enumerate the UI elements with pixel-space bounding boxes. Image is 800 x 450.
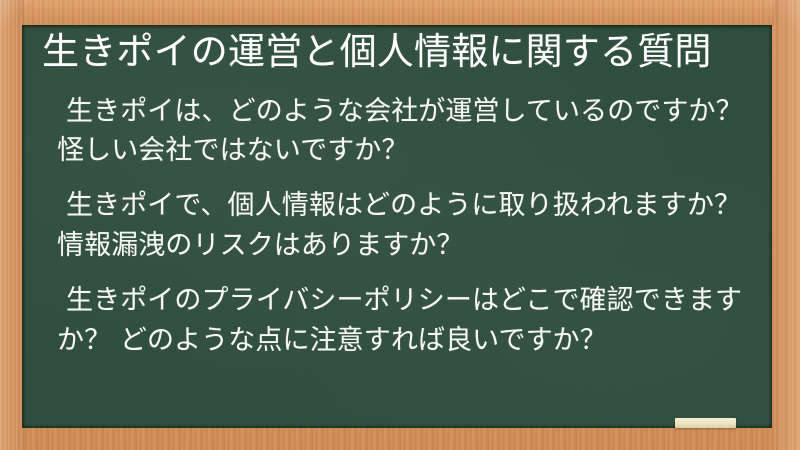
blackboard-slide: 生きポイの運営と個人情報に関する質問 生きポイは、どのような会社が運営しているの… — [0, 0, 800, 450]
blackboard-surface: 生きポイの運営と個人情報に関する質問 生きポイは、どのような会社が運営しているの… — [22, 25, 772, 428]
list-item: 生きポイは、どのような会社が運営しているのですか？怪しい会社ではないですか？ — [32, 92, 746, 171]
frame-top-board — [0, 0, 800, 26]
page-title: 生きポイの運営と個人情報に関する質問 — [32, 29, 746, 76]
list-item: 生きポイで、個人情報はどのように取り扱われますか？情報漏洩のリスクはありますか？ — [32, 186, 746, 265]
chalk-stick — [675, 418, 736, 428]
frame-corner-top-right — [768, 0, 800, 32]
question-list: 生きポイは、どのような会社が運営しているのですか？怪しい会社ではないですか？ 生… — [32, 92, 746, 360]
board-content: 生きポイの運営と個人情報に関する質問 生きポイは、どのような会社が運営しているの… — [22, 25, 772, 428]
list-item: 生きポイのプライバシーポリシーはどこで確認できますか？ どのような点に注意すれば… — [32, 281, 746, 360]
frame-right-board — [774, 0, 800, 450]
frame-left-board — [0, 0, 24, 450]
